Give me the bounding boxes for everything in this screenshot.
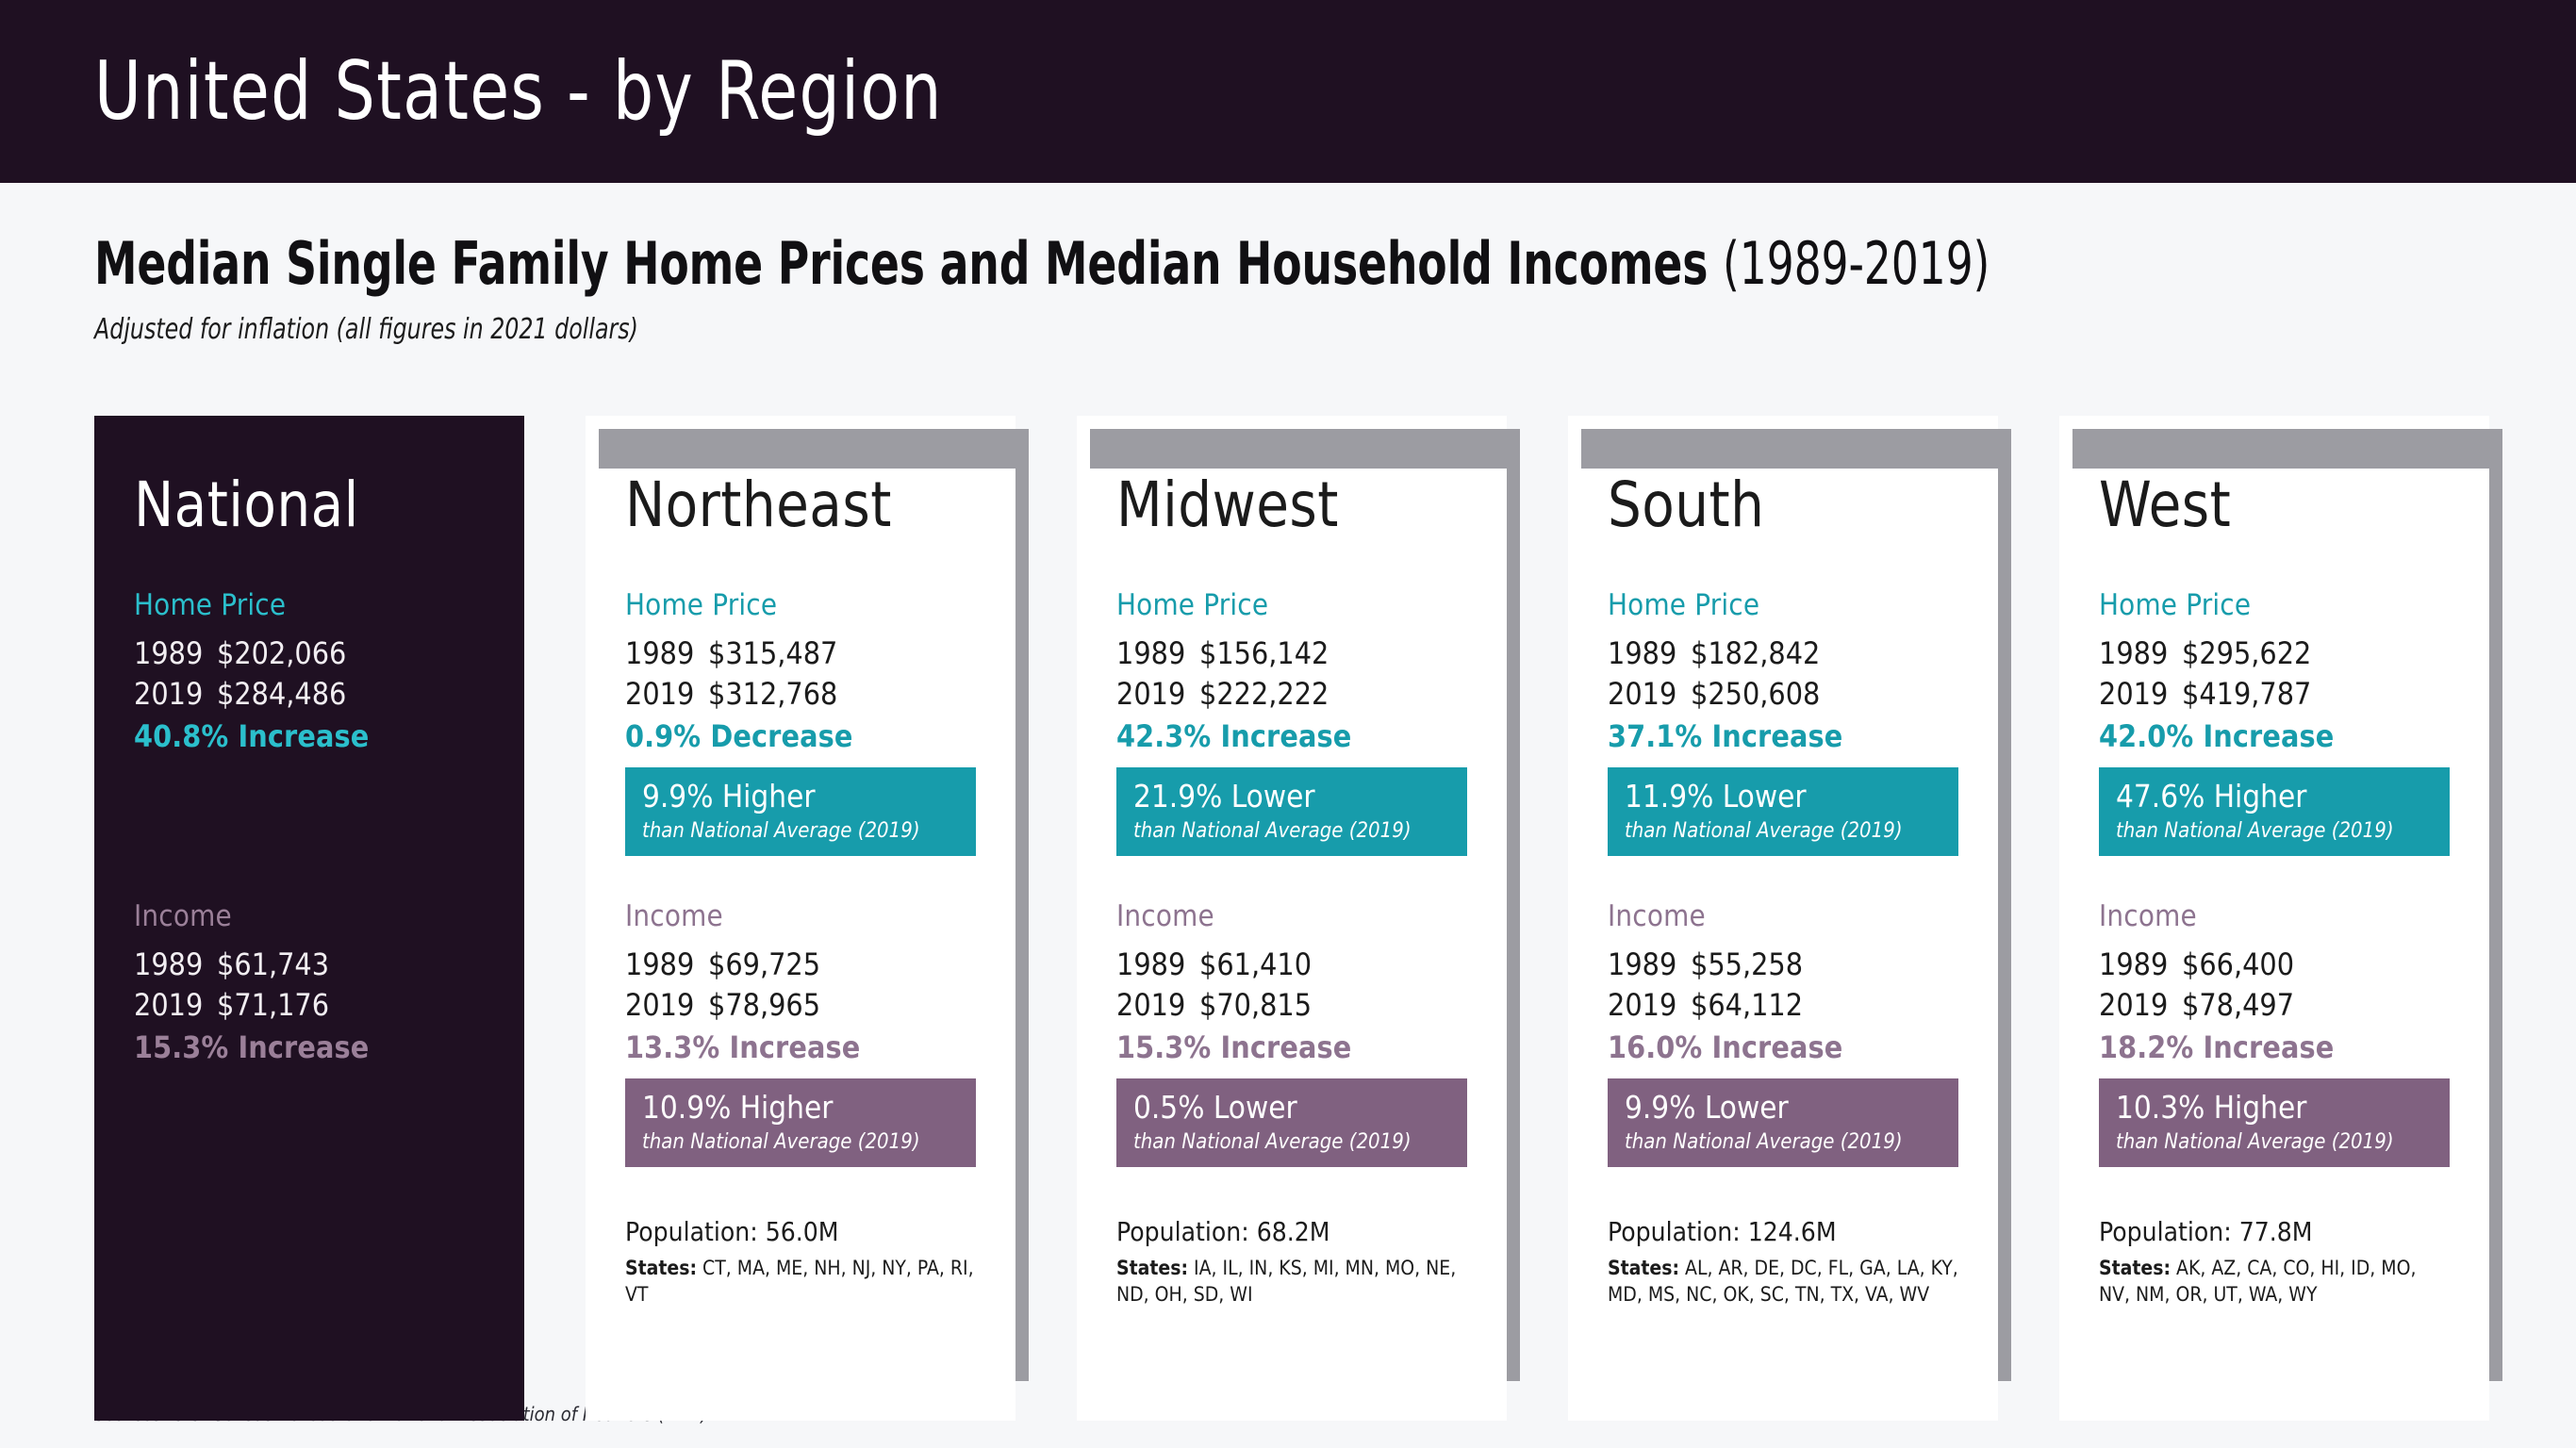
income-comparison-note: than National Average (2019) bbox=[2116, 1130, 2433, 1154]
income-value: $71,176 bbox=[217, 985, 329, 1026]
income-value: $64,112 bbox=[1691, 985, 1803, 1026]
income-comparison-value: 10.9% Higher bbox=[642, 1092, 959, 1125]
price-year-label: 1989 bbox=[1608, 633, 1691, 674]
region-card-grid: NationalHome Price1989$202,0662019$284,4… bbox=[94, 416, 2489, 1368]
population-value: Population: 124.6M bbox=[1608, 1216, 1958, 1247]
income-block: Income1989$55,2582019$64,11216.0% Increa… bbox=[1608, 899, 1958, 1167]
income-row: 1989$66,400 bbox=[2099, 945, 2450, 985]
page-subtitle: Adjusted for inflation (all figures in 2… bbox=[94, 313, 2128, 346]
price-value-rows: 1989$156,1422019$222,222 bbox=[1116, 633, 1467, 714]
income-value: $61,410 bbox=[1199, 945, 1312, 985]
price-comparison-value: 21.9% Lower bbox=[1133, 781, 1450, 814]
income-row: 2019$71,176 bbox=[134, 985, 485, 1026]
region-name: West bbox=[2099, 469, 2432, 541]
income-value: $69,725 bbox=[708, 945, 820, 985]
price-block: Home Price1989$182,8422019$250,60837.1% … bbox=[1608, 588, 1958, 856]
price-section-label: Home Price bbox=[1608, 588, 1958, 622]
income-comparison-badge: 9.9% Lowerthan National Average (2019) bbox=[1608, 1078, 1958, 1167]
price-row: 1989$156,142 bbox=[1116, 633, 1467, 674]
price-year-label: 2019 bbox=[134, 674, 217, 715]
price-comparison-note: than National Average (2019) bbox=[1625, 819, 1941, 843]
price-change-value: 0.9% Decrease bbox=[625, 718, 976, 754]
income-value-rows: 1989$66,4002019$78,497 bbox=[2099, 945, 2450, 1025]
price-year-label: 1989 bbox=[2099, 633, 2182, 674]
price-value: $312,768 bbox=[708, 674, 837, 715]
population-value: Population: 68.2M bbox=[1116, 1216, 1467, 1247]
income-year-label: 1989 bbox=[2099, 945, 2182, 985]
income-block: Income1989$69,7252019$78,96513.3% Increa… bbox=[625, 899, 976, 1167]
price-year-label: 2019 bbox=[625, 674, 708, 715]
price-change-value: 42.0% Increase bbox=[2099, 718, 2450, 754]
price-year-label: 1989 bbox=[1116, 633, 1199, 674]
states-list: States: AK, AZ, CA, CO, HI, ID, MO, NV, … bbox=[2099, 1256, 2450, 1308]
income-block: Income1989$66,4002019$78,49718.2% Increa… bbox=[2099, 899, 2450, 1167]
income-value: $78,497 bbox=[2182, 985, 2294, 1026]
region-card-national[interactable]: NationalHome Price1989$202,0662019$284,4… bbox=[94, 416, 524, 1368]
price-section-label: Home Price bbox=[2099, 588, 2450, 622]
income-value-rows: 1989$61,7432019$71,176 bbox=[134, 945, 485, 1025]
income-year-label: 2019 bbox=[625, 985, 708, 1026]
price-block: Home Price1989$295,6222019$419,78742.0% … bbox=[2099, 588, 2450, 856]
price-change-value: 40.8% Increase bbox=[134, 718, 485, 754]
income-year-label: 2019 bbox=[2099, 985, 2182, 1026]
price-change-value: 37.1% Increase bbox=[1608, 718, 1958, 754]
income-year-label: 2019 bbox=[134, 985, 217, 1026]
income-change-value: 16.0% Increase bbox=[1608, 1029, 1958, 1065]
income-value: $66,400 bbox=[2182, 945, 2294, 985]
page-header-title: United States - by Region bbox=[94, 44, 943, 139]
price-value: $315,487 bbox=[708, 633, 837, 674]
income-section-label: Income bbox=[625, 899, 976, 933]
price-value: $156,142 bbox=[1199, 633, 1329, 674]
card-body: WestHome Price1989$295,6222019$419,78742… bbox=[2059, 469, 2489, 1421]
income-row: 2019$64,112 bbox=[1608, 985, 1958, 1026]
page-title: Median Single Family Home Prices and Med… bbox=[94, 229, 1990, 298]
price-comparison-value: 9.9% Higher bbox=[642, 781, 959, 814]
title-block: Median Single Family Home Prices and Med… bbox=[94, 229, 2405, 346]
price-value: $202,066 bbox=[217, 633, 346, 674]
population-value: Population: 56.0M bbox=[625, 1216, 976, 1247]
income-row: 1989$61,743 bbox=[134, 945, 485, 985]
price-row: 2019$222,222 bbox=[1116, 674, 1467, 715]
income-comparison-value: 0.5% Lower bbox=[1133, 1092, 1450, 1125]
income-comparison-value: 10.3% Higher bbox=[2116, 1092, 2433, 1125]
card-body: NationalHome Price1989$202,0662019$284,4… bbox=[94, 469, 524, 1421]
income-comparison-badge: 0.5% Lowerthan National Average (2019) bbox=[1116, 1078, 1467, 1167]
header-band: United States - by Region bbox=[0, 0, 2576, 183]
income-year-label: 1989 bbox=[625, 945, 708, 985]
price-block: Home Price1989$315,4872019$312,7680.9% D… bbox=[625, 588, 976, 856]
price-year-label: 2019 bbox=[1608, 674, 1691, 715]
income-comparison-note: than National Average (2019) bbox=[1133, 1130, 1450, 1154]
region-card-south[interactable]: SouthHome Price1989$182,8422019$250,6083… bbox=[1568, 416, 1998, 1368]
price-change-value: 42.3% Increase bbox=[1116, 718, 1467, 754]
region-name: Midwest bbox=[1116, 469, 1449, 541]
price-row: 1989$202,066 bbox=[134, 633, 485, 674]
price-row: 2019$250,608 bbox=[1608, 674, 1958, 715]
income-comparison-note: than National Average (2019) bbox=[642, 1130, 959, 1154]
price-value-rows: 1989$182,8422019$250,608 bbox=[1608, 633, 1958, 714]
price-block: Home Price1989$202,0662019$284,48640.8% … bbox=[134, 588, 485, 856]
income-section-label: Income bbox=[2099, 899, 2450, 933]
price-comparison-badge: 11.9% Lowerthan National Average (2019) bbox=[1608, 767, 1958, 856]
price-section-label: Home Price bbox=[625, 588, 976, 622]
income-section-label: Income bbox=[1608, 899, 1958, 933]
income-year-label: 2019 bbox=[1116, 985, 1199, 1026]
income-comparison-badge: 10.9% Higherthan National Average (2019) bbox=[625, 1078, 976, 1167]
income-comparison-note: than National Average (2019) bbox=[1625, 1130, 1941, 1154]
income-value: $61,743 bbox=[217, 945, 329, 985]
income-section-label: Income bbox=[134, 899, 485, 933]
states-label: States: bbox=[625, 1257, 697, 1279]
income-value-rows: 1989$69,7252019$78,965 bbox=[625, 945, 976, 1025]
page-title-years: (1989-2019) bbox=[1723, 229, 1990, 298]
income-value: $55,258 bbox=[1691, 945, 1803, 985]
price-row: 2019$419,787 bbox=[2099, 674, 2450, 715]
price-value: $250,608 bbox=[1691, 674, 1820, 715]
page-title-text: Median Single Family Home Prices and Med… bbox=[94, 229, 1723, 298]
price-comparison-note: than National Average (2019) bbox=[642, 819, 959, 843]
income-change-value: 18.2% Increase bbox=[2099, 1029, 2450, 1065]
states-list: States: IA, IL, IN, KS, MI, MN, MO, NE, … bbox=[1116, 1256, 1467, 1308]
states-list: States: AL, AR, DE, DC, FL, GA, LA, KY, … bbox=[1608, 1256, 1958, 1308]
price-year-label: 1989 bbox=[625, 633, 708, 674]
income-row: 2019$78,497 bbox=[2099, 985, 2450, 1026]
card-body: NortheastHome Price1989$315,4872019$312,… bbox=[586, 469, 1016, 1421]
price-value: $222,222 bbox=[1199, 674, 1329, 715]
price-comparison-note: than National Average (2019) bbox=[2116, 819, 2433, 843]
states-label: States: bbox=[1608, 1257, 1679, 1279]
income-year-label: 2019 bbox=[1608, 985, 1691, 1026]
income-comparison-badge: 10.3% Higherthan National Average (2019) bbox=[2099, 1078, 2450, 1167]
price-comparison-badge: 21.9% Lowerthan National Average (2019) bbox=[1116, 767, 1467, 856]
income-change-value: 15.3% Increase bbox=[1116, 1029, 1467, 1065]
price-row: 2019$312,768 bbox=[625, 674, 976, 715]
price-block: Home Price1989$156,1422019$222,22242.3% … bbox=[1116, 588, 1467, 856]
income-row: 1989$69,725 bbox=[625, 945, 976, 985]
price-comparison-badge: 9.9% Higherthan National Average (2019) bbox=[625, 767, 976, 856]
income-row: 1989$61,410 bbox=[1116, 945, 1467, 985]
price-year-label: 2019 bbox=[2099, 674, 2182, 715]
income-value: $78,965 bbox=[708, 985, 820, 1026]
income-section-label: Income bbox=[1116, 899, 1467, 933]
income-change-value: 15.3% Increase bbox=[134, 1029, 485, 1065]
price-comparison-note: than National Average (2019) bbox=[1133, 819, 1450, 843]
price-value-rows: 1989$315,4872019$312,768 bbox=[625, 633, 976, 714]
price-value: $295,622 bbox=[2182, 633, 2311, 674]
region-name: National bbox=[134, 469, 467, 541]
price-section-label: Home Price bbox=[134, 588, 485, 622]
price-value-rows: 1989$202,0662019$284,486 bbox=[134, 633, 485, 714]
income-value-rows: 1989$55,2582019$64,112 bbox=[1608, 945, 1958, 1025]
income-value-rows: 1989$61,4102019$70,815 bbox=[1116, 945, 1467, 1025]
states-list: States: CT, MA, ME, NH, NJ, NY, PA, RI, … bbox=[625, 1256, 976, 1308]
income-row: 2019$70,815 bbox=[1116, 985, 1467, 1026]
income-year-label: 1989 bbox=[1608, 945, 1691, 985]
card-body: MidwestHome Price1989$156,1422019$222,22… bbox=[1077, 469, 1507, 1421]
income-change-value: 13.3% Increase bbox=[625, 1029, 976, 1065]
population-value: Population: 77.8M bbox=[2099, 1216, 2450, 1247]
price-year-label: 1989 bbox=[134, 633, 217, 674]
price-value-rows: 1989$295,6222019$419,787 bbox=[2099, 633, 2450, 714]
region-name: Northeast bbox=[625, 469, 958, 541]
price-comparison-value: 11.9% Lower bbox=[1625, 781, 1941, 814]
price-comparison-badge: 47.6% Higherthan National Average (2019) bbox=[2099, 767, 2450, 856]
region-card-northeast[interactable]: NortheastHome Price1989$315,4872019$312,… bbox=[586, 416, 1016, 1368]
region-card-midwest[interactable]: MidwestHome Price1989$156,1422019$222,22… bbox=[1077, 416, 1507, 1368]
income-row: 2019$78,965 bbox=[625, 985, 976, 1026]
price-value: $419,787 bbox=[2182, 674, 2311, 715]
income-row: 1989$55,258 bbox=[1608, 945, 1958, 985]
income-year-label: 1989 bbox=[134, 945, 217, 985]
price-value: $284,486 bbox=[217, 674, 346, 715]
region-card-west[interactable]: WestHome Price1989$295,6222019$419,78742… bbox=[2059, 416, 2489, 1368]
price-row: 2019$284,486 bbox=[134, 674, 485, 715]
price-value: $182,842 bbox=[1691, 633, 1820, 674]
price-row: 1989$182,842 bbox=[1608, 633, 1958, 674]
price-comparison-value: 47.6% Higher bbox=[2116, 781, 2433, 814]
price-row: 1989$315,487 bbox=[625, 633, 976, 674]
states-label: States: bbox=[1116, 1257, 1188, 1279]
price-year-label: 2019 bbox=[1116, 674, 1199, 715]
income-year-label: 1989 bbox=[1116, 945, 1199, 985]
income-block: Income1989$61,7432019$71,17615.3% Increa… bbox=[134, 899, 485, 1167]
states-label: States: bbox=[2099, 1257, 2171, 1279]
income-comparison-value: 9.9% Lower bbox=[1625, 1092, 1941, 1125]
price-section-label: Home Price bbox=[1116, 588, 1467, 622]
card-body: SouthHome Price1989$182,8422019$250,6083… bbox=[1568, 469, 1998, 1421]
income-block: Income1989$61,4102019$70,81515.3% Increa… bbox=[1116, 899, 1467, 1167]
region-name: South bbox=[1608, 469, 1940, 541]
income-value: $70,815 bbox=[1199, 985, 1312, 1026]
price-row: 1989$295,622 bbox=[2099, 633, 2450, 674]
